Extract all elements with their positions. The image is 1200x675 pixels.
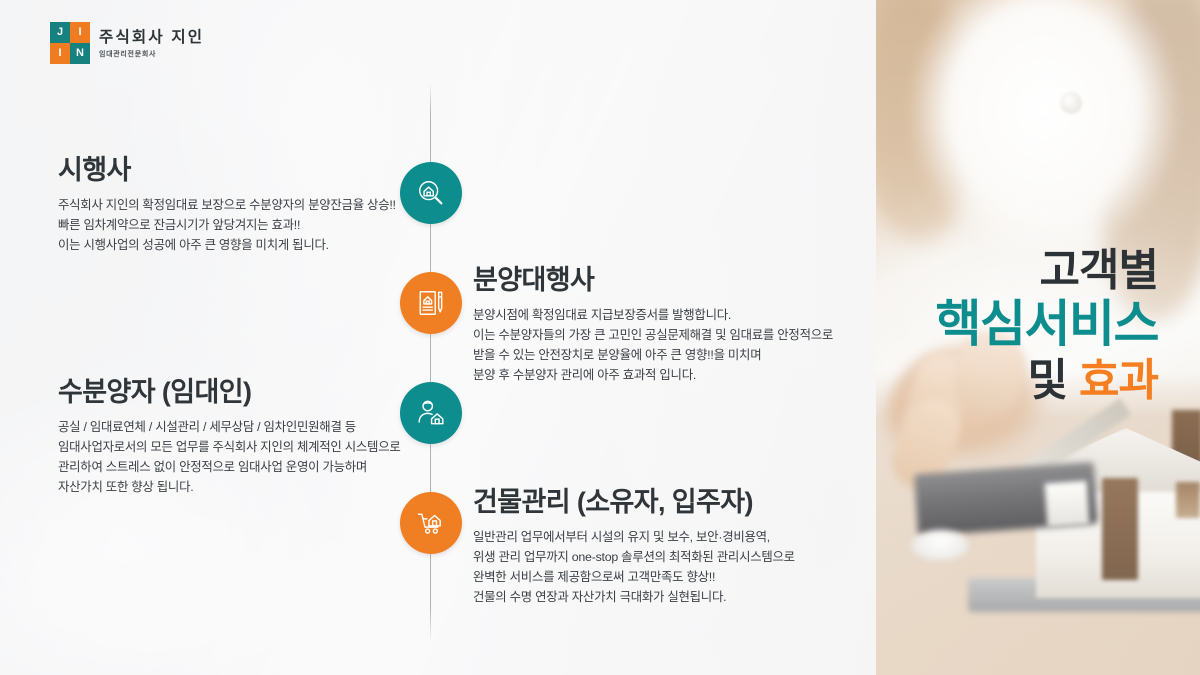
section-body-1: 주식회사 지인의 확정임대료 보장으로 수분양자의 분양잔금율 상승!! 빠른 … xyxy=(58,195,396,255)
headline-line-3-plain: 및 xyxy=(1028,356,1067,405)
section-body-3-line-3: 관리하여 스트레스 없이 안정적으로 임대사업 운영이 가능하며 xyxy=(58,457,401,477)
timeline-node-3[interactable] xyxy=(400,382,462,444)
company-logo[interactable]: J I I N 주식회사 지인 임대관리전문회사 xyxy=(50,22,204,64)
person-house-icon xyxy=(400,382,462,444)
section-body-4-line-2: 위생 관리 업무까지 one-stop 솔루션의 최적화된 관리시스템으로 xyxy=(473,547,795,567)
section-title-3: 수분양자 (임대인) xyxy=(58,377,401,408)
timeline-node-4[interactable] xyxy=(400,492,462,554)
section-body-2-line-1: 분양시점에 확정임대료 지급보장증서를 발행합니다. xyxy=(473,305,833,325)
section-body-2-line-2: 이는 수분양자들의 가장 큰 고민인 공실문제해결 및 임대료를 안정적으로 xyxy=(473,325,833,345)
section-title-2: 분양대행사 xyxy=(473,265,833,296)
section-body-3-line-1: 공실 / 임대료연체 / 시설관리 / 세무상담 / 임차인민원해결 등 xyxy=(58,417,401,437)
logo-company-name: 주식회사 지인 xyxy=(99,29,204,47)
section-block-3: 수분양자 (임대인) 공실 / 임대료연체 / 시설관리 / 세무상담 / 임차… xyxy=(58,377,401,497)
logo-wordmark: 주식회사 지인 임대관리전문회사 xyxy=(99,27,204,59)
house-magnifier-icon xyxy=(400,162,462,224)
section-body-4-line-4: 건물의 수명 연장과 자산가치 극대화가 실현됩니다. xyxy=(473,587,795,607)
section-body-3-line-4: 자산가치 또한 향상 됩니다. xyxy=(58,477,401,497)
section-body-3-line-2: 임대사업자로서의 모든 업무를 주식회사 지인의 체계적인 시스템으로 xyxy=(58,437,401,457)
section-body-4-line-3: 완벽한 서비스를 제공함으로써 고객만족도 향상!! xyxy=(473,567,795,587)
logo-letter-j: J xyxy=(50,22,70,43)
section-body-4-line-1: 일반관리 업무에서부터 시설의 유지 및 보수, 보안·경비용역, xyxy=(473,527,795,547)
logo-letter-i2: I xyxy=(50,43,70,64)
section-body-1-line-2: 빠른 임차계약으로 잔금시기가 앞당겨지는 효과!! xyxy=(58,215,396,235)
logo-company-tagline: 임대관리전문회사 xyxy=(99,49,204,59)
section-body-2-line-3: 받을 수 있는 안전장치로 분양율에 아주 큰 영향!!을 미치며 xyxy=(473,345,833,365)
section-body-2-line-4: 분양 후 수분양자 관리에 아주 효과적 입니다. xyxy=(473,365,833,385)
contract-document-pen-icon xyxy=(400,272,462,334)
section-body-3: 공실 / 임대료연체 / 시설관리 / 세무상담 / 임차인민원해결 등 임대사… xyxy=(58,417,401,497)
section-title-4: 건물관리 (소유자, 입주자) xyxy=(473,487,795,518)
timeline-node-1[interactable] xyxy=(400,162,462,224)
section-body-2: 분양시점에 확정임대료 지급보장증서를 발행합니다. 이는 수분양자들의 가장 … xyxy=(473,305,833,385)
slide-stage: J I I N 주식회사 지인 임대관리전문회사 xyxy=(0,0,1200,675)
cart-house-icon xyxy=(400,492,462,554)
timeline-node-2[interactable] xyxy=(400,272,462,334)
logo-letter-n: N xyxy=(70,43,90,64)
logo-mark: J I I N xyxy=(50,22,90,64)
section-block-4: 건물관리 (소유자, 입주자) 일반관리 업무에서부터 시설의 유지 및 보수,… xyxy=(473,487,795,607)
section-title-1: 시행사 xyxy=(58,155,396,186)
section-block-1: 시행사 주식회사 지인의 확정임대료 보장으로 수분양자의 분양잔금율 상승!!… xyxy=(58,155,396,255)
headline-line-3-accent: 효과 xyxy=(1079,356,1158,405)
headline-line-1: 고객별 xyxy=(936,248,1159,293)
logo-letter-i1: I xyxy=(70,22,90,43)
section-body-1-line-3: 이는 시행사업의 성공에 아주 큰 영향을 미치게 됩니다. xyxy=(58,235,396,255)
headline-line-3: 및효과 xyxy=(936,358,1159,403)
section-block-2: 분양대행사 분양시점에 확정임대료 지급보장증서를 발행합니다. 이는 수분양자… xyxy=(473,265,833,385)
section-body-4: 일반관리 업무에서부터 시설의 유지 및 보수, 보안·경비용역, 위생 관리 … xyxy=(473,527,795,607)
headline-line-2: 핵심서비스 xyxy=(936,299,1159,351)
slide-headline: 고객별 핵심서비스 및효과 xyxy=(936,248,1159,403)
section-body-1-line-1: 주식회사 지인의 확정임대료 보장으로 수분양자의 분양잔금율 상승!! xyxy=(58,195,396,215)
